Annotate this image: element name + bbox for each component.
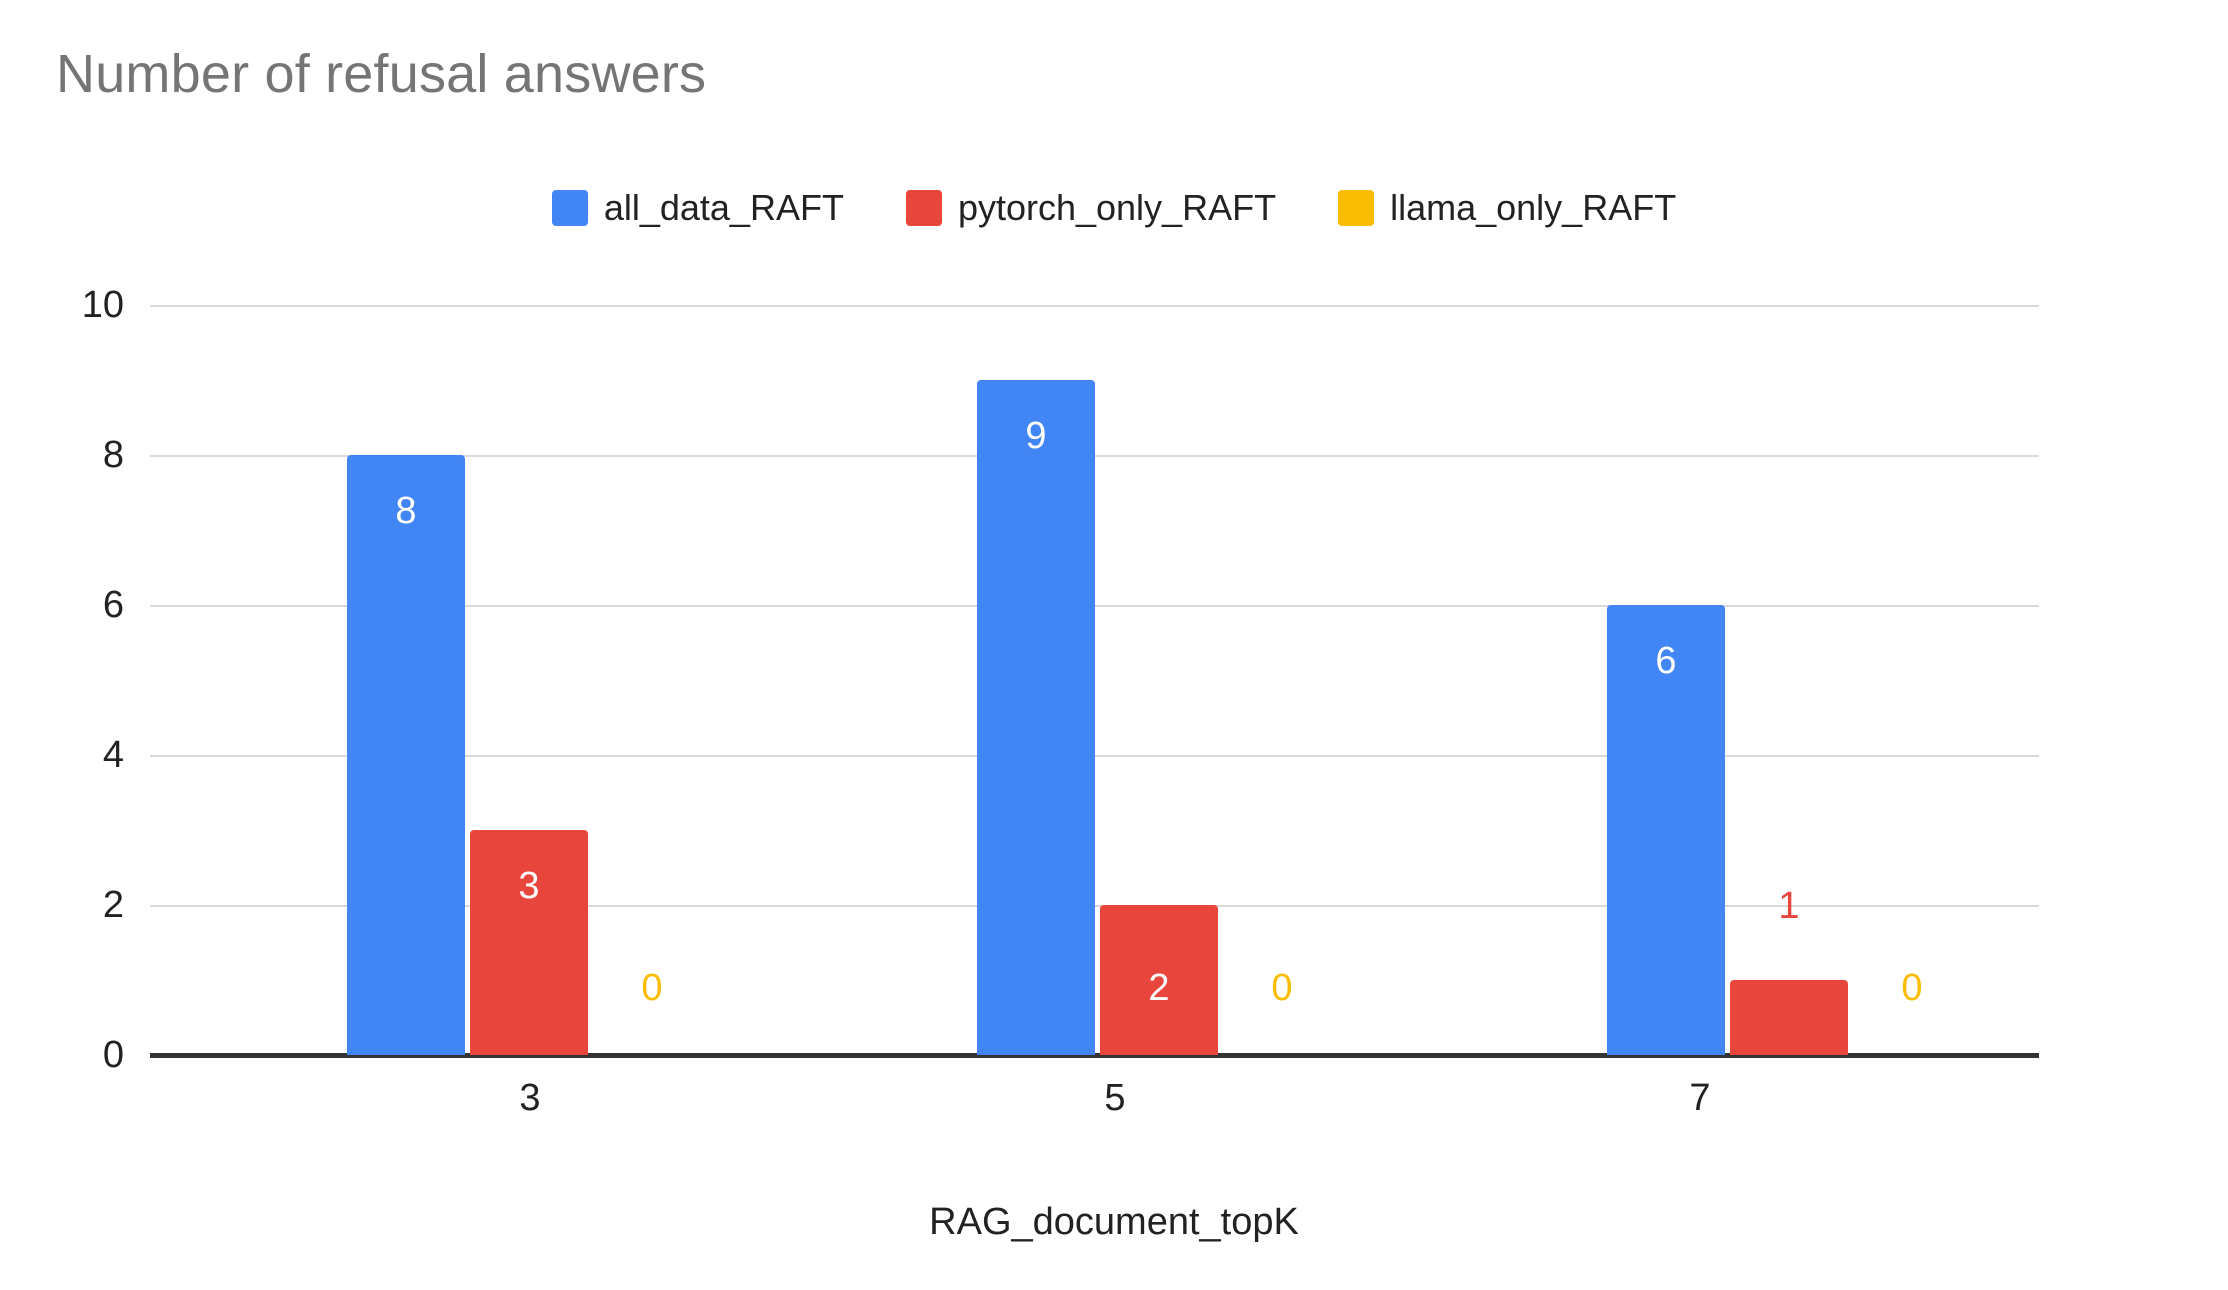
bar-all-data-raft-3[interactable] (347, 455, 465, 1055)
bar-group-7: 6 1 0 (1410, 305, 2040, 1055)
bar-group-5: 9 2 0 (780, 305, 1410, 1055)
legend-item-all-data-raft[interactable]: all_data_RAFT (552, 188, 844, 228)
y-tick-label-2: 2 (103, 886, 124, 924)
bar-slot-llama-only-raft-7[interactable]: 0 (1853, 305, 1971, 1055)
bar-all-data-raft-5[interactable] (977, 380, 1095, 1055)
chart-title: Number of refusal answers (56, 42, 706, 106)
bar-slot-pytorch-only-raft-3[interactable]: 3 (470, 305, 588, 1055)
x-tick-label-7: 7 (1689, 1076, 1710, 1120)
legend-swatch-icon-blue (552, 190, 588, 226)
bar-slot-llama-only-raft-3[interactable]: 0 (593, 305, 711, 1055)
y-tick-label-4: 4 (103, 736, 124, 774)
x-axis-title: RAG_document_topK (0, 1200, 2228, 1244)
y-tick-label-8: 8 (103, 436, 124, 474)
chart-container: Number of refusal answers all_data_RAFT … (0, 0, 2228, 1290)
y-tick-label-10: 10 (82, 286, 124, 324)
legend-item-pytorch-only-raft[interactable]: pytorch_only_RAFT (906, 188, 1276, 228)
y-tick-label-6: 6 (103, 586, 124, 624)
x-tick-label-3: 3 (519, 1076, 540, 1120)
plot-area: 8 3 0 9 2 0 (150, 305, 2039, 1055)
y-tick-label-0: 0 (103, 1036, 124, 1074)
legend-swatch-icon-red (906, 190, 942, 226)
y-axis-tick-labels: 10 8 6 4 2 0 (0, 305, 150, 1055)
x-tick-label-5: 5 (1104, 1076, 1125, 1120)
legend-swatch-icon-yellow (1338, 190, 1374, 226)
bar-slot-all-data-raft-3[interactable]: 8 (347, 305, 465, 1055)
bar-slot-pytorch-only-raft-5[interactable]: 2 (1100, 305, 1218, 1055)
bar-label-llama-only-raft-5: 0 (1223, 969, 1341, 1007)
bar-label-llama-only-raft-3: 0 (593, 969, 711, 1007)
bar-group-3: 8 3 0 (150, 305, 780, 1055)
legend-label-all-data-raft: all_data_RAFT (604, 188, 844, 228)
bar-slot-llama-only-raft-5[interactable]: 0 (1223, 305, 1341, 1055)
legend-label-llama-only-raft: llama_only_RAFT (1390, 188, 1676, 228)
legend-label-pytorch-only-raft: pytorch_only_RAFT (958, 188, 1276, 228)
bar-pytorch-only-raft-3[interactable] (470, 830, 588, 1055)
bar-slot-all-data-raft-7[interactable]: 6 (1607, 305, 1725, 1055)
bar-all-data-raft-7[interactable] (1607, 605, 1725, 1055)
legend-item-llama-only-raft[interactable]: llama_only_RAFT (1338, 188, 1676, 228)
bar-label-llama-only-raft-7: 0 (1853, 969, 1971, 1007)
bar-pytorch-only-raft-7[interactable] (1730, 980, 1848, 1055)
bar-pytorch-only-raft-5[interactable] (1100, 905, 1218, 1055)
bar-slot-all-data-raft-5[interactable]: 9 (977, 305, 1095, 1055)
bar-label-pytorch-only-raft-7: 1 (1730, 887, 1848, 925)
bar-slot-pytorch-only-raft-7[interactable]: 1 (1730, 305, 1848, 1055)
chart-legend: all_data_RAFT pytorch_only_RAFT llama_on… (0, 188, 2228, 228)
